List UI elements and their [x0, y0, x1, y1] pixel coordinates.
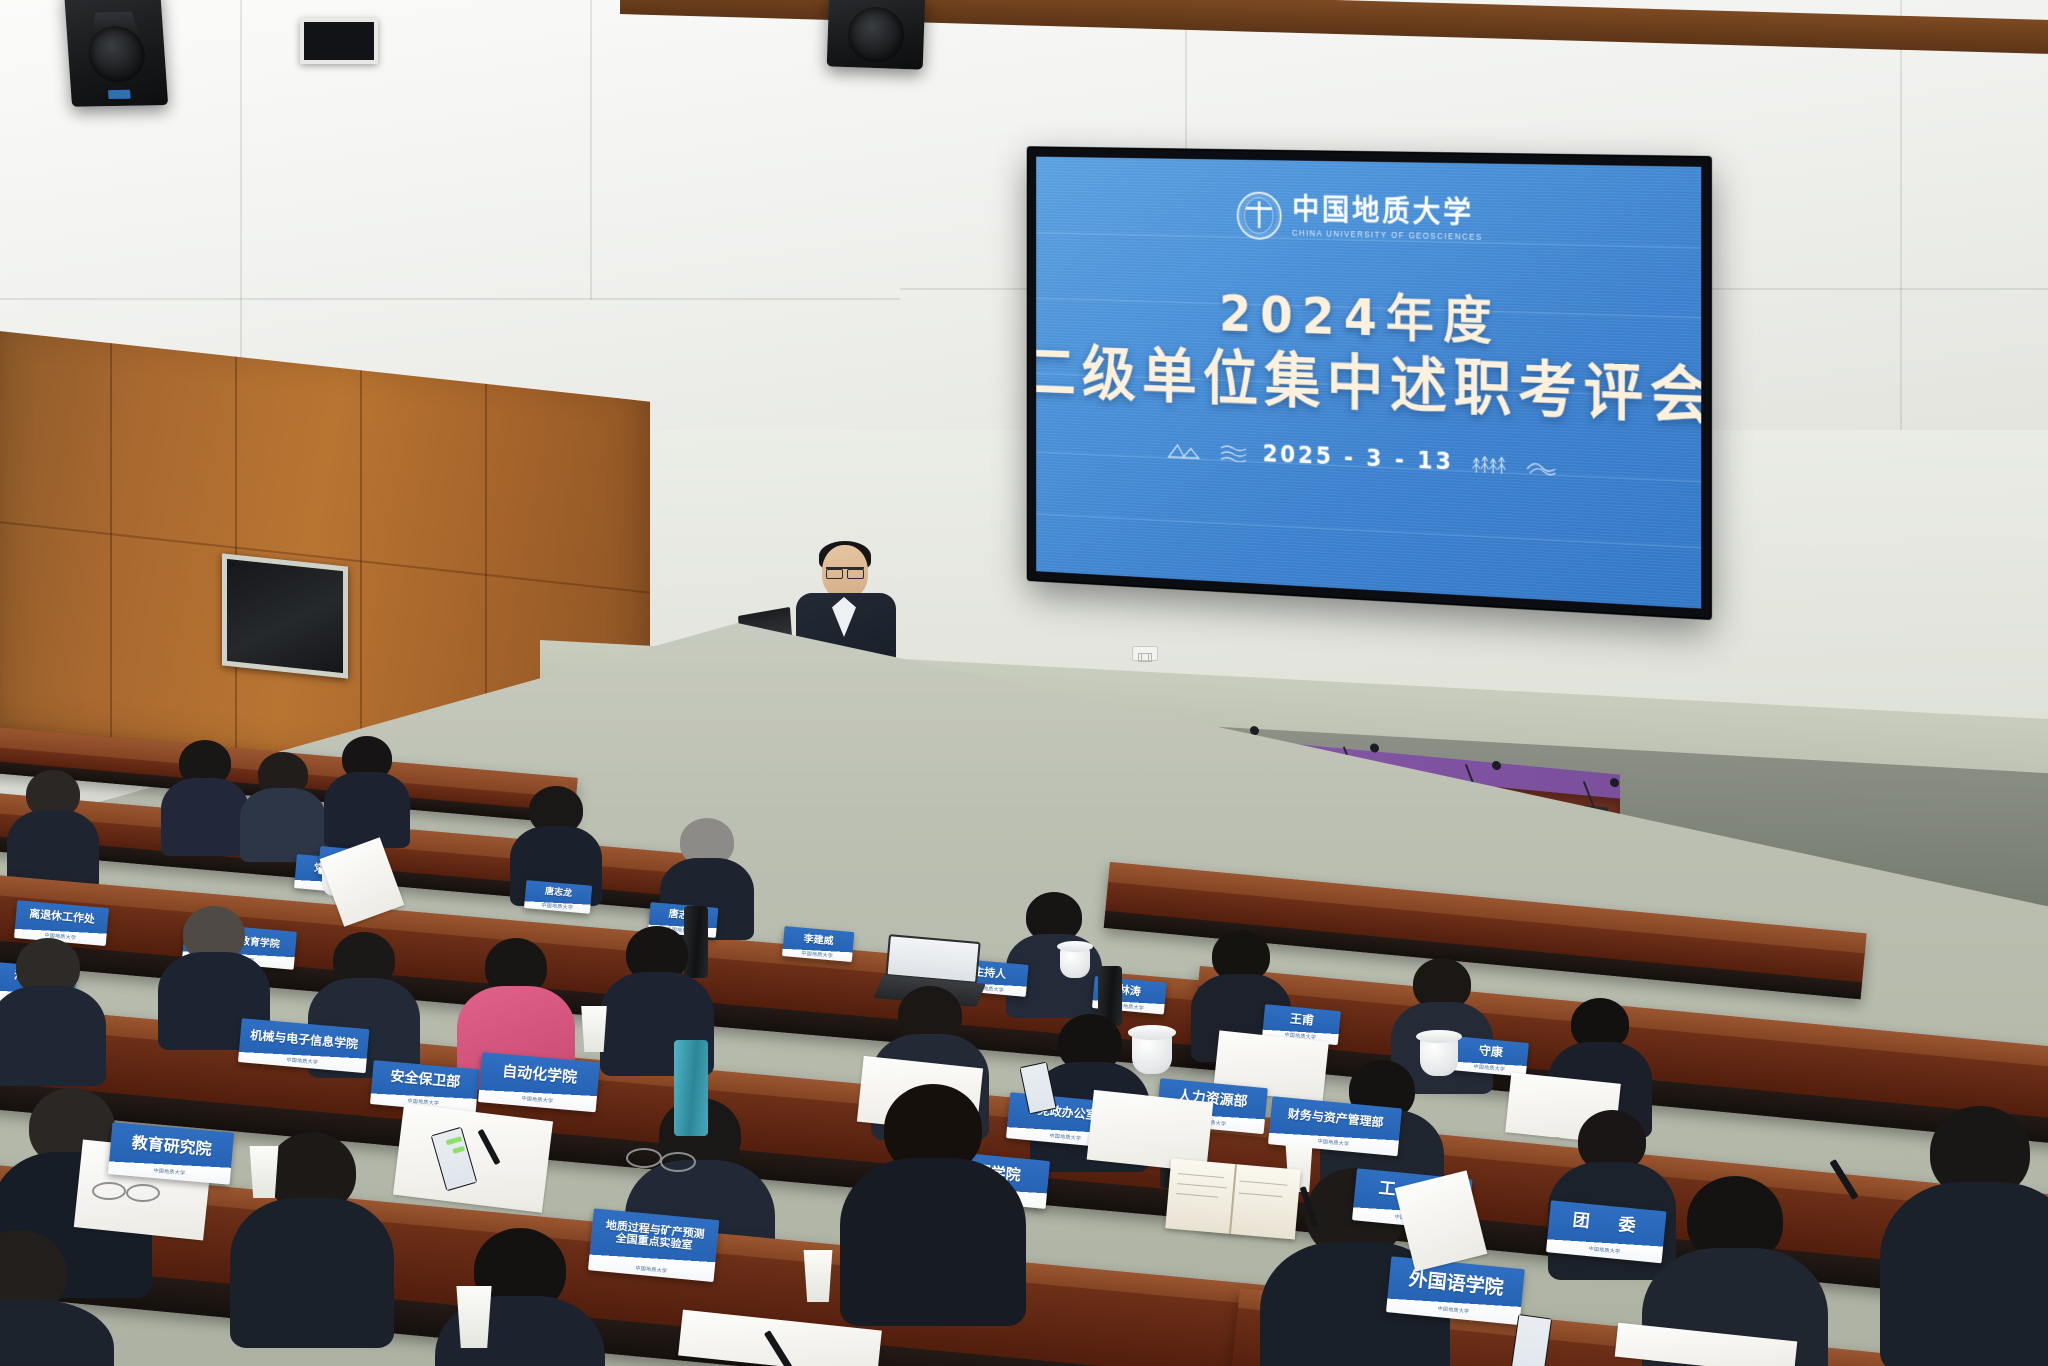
thermos-flask-teal[interactable] — [674, 1040, 708, 1136]
wall-speaker-left — [64, 0, 168, 107]
audience-person-left-edge — [0, 1230, 94, 1366]
audience-person — [168, 906, 260, 1036]
cloud-wave-ornament-icon — [1525, 455, 1557, 476]
document-paper — [393, 1103, 553, 1213]
audience-person — [245, 752, 321, 852]
led-display-screen: 中国地质大学 CHINA UNIVERSITY OF GEOSCIENCES 2… — [1028, 148, 1710, 618]
nameplate-p08: 自动化学院 中国地质大学 — [478, 1052, 600, 1112]
mountain-ornament-icon — [1166, 440, 1203, 461]
speaker-glasses-icon — [826, 567, 864, 575]
audience-person — [166, 740, 244, 846]
water-wave-ornament-icon — [1220, 442, 1247, 462]
open-notebook[interactable] — [1165, 1158, 1301, 1239]
ceiling-flush-panel — [300, 18, 378, 64]
eyeglasses-prop-4 — [660, 1152, 696, 1172]
nameplate-p23: 团 委 中国地质大学 — [1546, 1200, 1667, 1263]
audience-person — [12, 770, 94, 880]
university-seal-icon — [1236, 191, 1281, 240]
screen-date-row: 2025 - 3 - 13 — [1166, 436, 1557, 480]
nameplate-p11: 唐志龙 中国地质大学 — [524, 880, 592, 914]
university-name-cn: 中国地质大学 — [1292, 195, 1483, 228]
audience-person — [858, 1084, 1008, 1314]
led-screen-content: 中国地质大学 CHINA UNIVERSITY OF GEOSCIENCES 2… — [1036, 157, 1701, 609]
nameplate-p13: 李建威 中国地质大学 — [782, 926, 854, 962]
audience-person — [516, 786, 596, 894]
lidded-teacup[interactable] — [1060, 948, 1090, 978]
lidded-teacup[interactable] — [1132, 1034, 1172, 1074]
wall-speaker-center — [827, 0, 926, 70]
eyeglasses-prop-2 — [126, 1184, 160, 1202]
university-name-en: CHINA UNIVERSITY OF GEOSCIENCES — [1292, 228, 1483, 242]
lecture-hall-photo: 消火栓 中国地质大学 CHINA UNIVERSITY OF GEOSCIENC… — [0, 0, 2048, 1366]
university-logo: 中国地质大学 CHINA UNIVERSITY OF GEOSCIENCES — [1236, 191, 1482, 244]
projection-booth-window — [222, 553, 348, 678]
audience-person — [0, 938, 96, 1074]
audience-person-right-edge — [1900, 1106, 2048, 1366]
eyeglasses-prop-3 — [626, 1148, 662, 1168]
nameplate-p07: 教育研究院 中国地质大学 — [108, 1122, 234, 1184]
nameplate-p09: 地质过程与矿产预测 全国重点实验室 中国地质大学 — [588, 1208, 719, 1282]
audience-person — [330, 736, 404, 840]
nameplate-p17: 守康 中国地质大学 — [1452, 1036, 1529, 1077]
wall-power-socket-2[interactable] — [1132, 646, 1158, 661]
screen-date: 2025 - 3 - 13 — [1263, 440, 1454, 475]
eyeglasses-prop — [92, 1182, 126, 1200]
screen-title-line2: 二级单位集中述职考评会 — [1036, 324, 1701, 436]
pine-forest-ornament-icon — [1470, 452, 1507, 475]
lidded-teacup[interactable] — [1420, 1038, 1458, 1076]
